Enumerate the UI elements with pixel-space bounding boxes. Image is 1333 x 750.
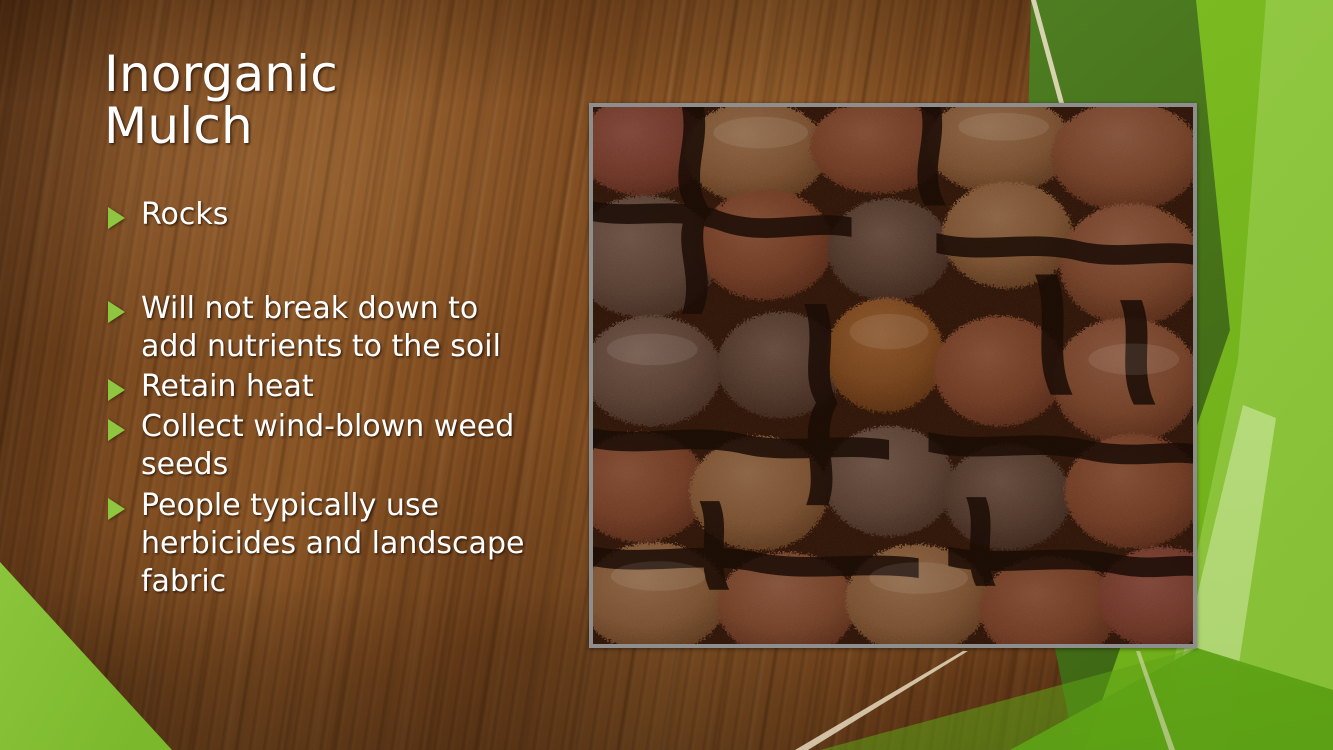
triangle-bullet-icon (108, 419, 125, 441)
page-title: Inorganic Mulch (104, 48, 574, 152)
list-item: Collect wind-blown weed seeds (108, 408, 528, 484)
triangle-bullet-icon (108, 301, 125, 323)
list-item-spacer (108, 236, 528, 288)
lava-rock-mulch-photo (593, 107, 1193, 644)
list-item-label: Collect wind-blown weed seeds (141, 408, 528, 484)
triangle-bullet-icon (108, 207, 125, 229)
picture-frame (589, 103, 1197, 648)
list-item: Retain heat (108, 368, 528, 406)
list-item: Rocks (108, 196, 528, 234)
list-item-label: People typically use herbicides and land… (141, 487, 528, 601)
slide-canvas: Inorganic Mulch Rocks Will not break dow… (0, 0, 1333, 750)
triangle-bullet-icon (108, 379, 125, 401)
list-item-label: Will not break down to add nutrients to … (141, 290, 528, 366)
list-item-label: Rocks (141, 196, 228, 234)
triangle-bullet-icon (108, 498, 125, 520)
bullet-list: Rocks Will not break down to add nutrien… (108, 196, 528, 603)
list-item-label: Retain heat (141, 368, 314, 406)
list-item: Will not break down to add nutrients to … (108, 290, 528, 366)
list-item: People typically use herbicides and land… (108, 487, 528, 601)
